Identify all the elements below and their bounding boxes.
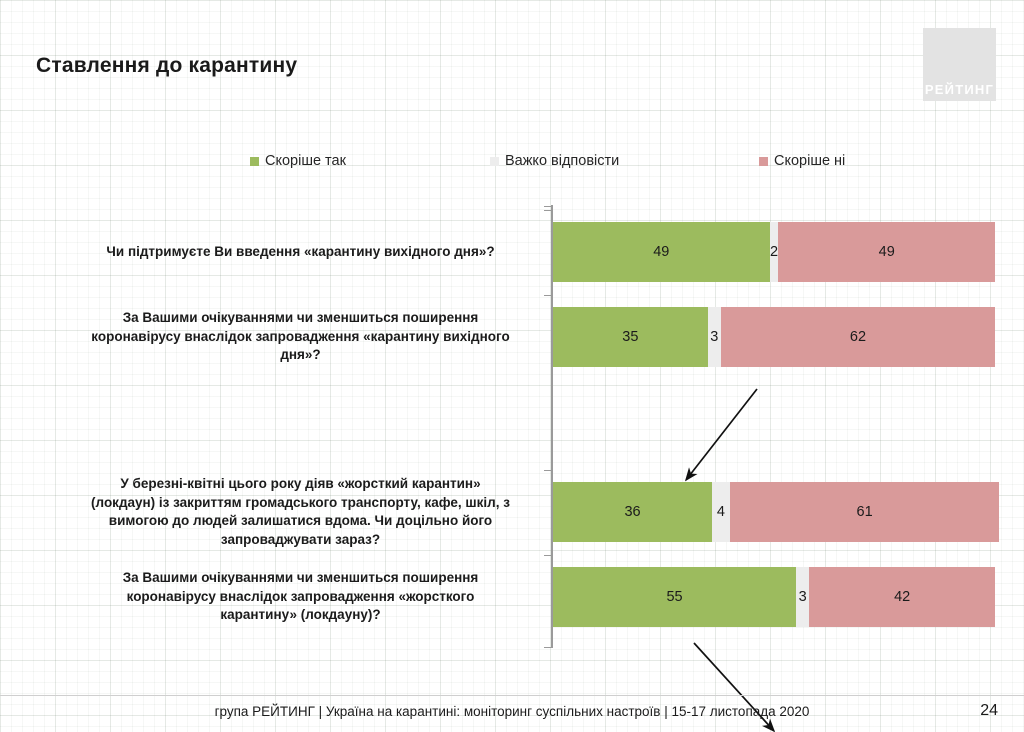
- segment-value: 42: [894, 589, 910, 605]
- legend-swatch-hard: [490, 157, 499, 166]
- category-label-line: Чи підтримуєте Ви введення «карантину ви…: [60, 243, 541, 262]
- category-label-line: У березні-квітні цього року діяв «жорстк…: [60, 475, 541, 494]
- logo-label: РЕЙТИНГ: [925, 82, 994, 97]
- segment-no: 49: [778, 222, 995, 282]
- legend-swatch-no: [759, 157, 768, 166]
- segment-value: 55: [666, 589, 682, 605]
- category-label: За Вашими очікуваннями чи зменшиться пош…: [60, 569, 541, 625]
- segment-no: 61: [730, 482, 1000, 542]
- axis-tick: [544, 470, 552, 471]
- segment-value: 49: [653, 244, 669, 260]
- segment-value: 3: [799, 589, 807, 605]
- legend-item-hard: Важко відповісти: [490, 153, 619, 169]
- category-label-line: коронавірусу внаслідок запровадження «ка…: [60, 328, 541, 347]
- segment-value: 4: [717, 504, 725, 520]
- slide: Ставлення до карантину РЕЙТИНГ Скоріше т…: [0, 0, 1024, 732]
- category-label-line: (локдаун) із закриттям громадського тран…: [60, 494, 541, 513]
- segment-value: 62: [850, 329, 866, 345]
- legend-item-yes: Скоріше так: [250, 153, 346, 169]
- segment-no: 42: [809, 567, 995, 627]
- axis-tick: [544, 206, 552, 207]
- arrow-weekend-quarantine: [686, 389, 757, 480]
- legend-item-no: Скоріше ні: [759, 153, 845, 169]
- segment-hard: 3: [708, 307, 721, 367]
- legend-label-no: Скоріше ні: [774, 153, 845, 169]
- page-title: Ставлення до карантину: [36, 54, 297, 78]
- category-label: За Вашими очікуваннями чи зменшиться пош…: [60, 309, 541, 365]
- segment-value: 49: [879, 244, 895, 260]
- axis-tick: [544, 555, 552, 556]
- chart-row: Чи підтримуєте Ви введення «карантину ви…: [0, 222, 1024, 282]
- segment-yes: 55: [553, 567, 796, 627]
- legend-label-yes: Скоріше так: [265, 153, 346, 169]
- rating-logo: РЕЙТИНГ: [923, 28, 996, 101]
- category-label-line: запроваджувати зараз?: [60, 531, 541, 550]
- axis-tick: [544, 647, 552, 648]
- segment-value: 2: [770, 244, 778, 260]
- segment-hard: 2: [770, 222, 779, 282]
- segment-hard: 4: [712, 482, 730, 542]
- chart-row: За Вашими очікуваннями чи зменшиться пош…: [0, 307, 1024, 367]
- category-label: У березні-квітні цього року діяв «жорстк…: [60, 475, 541, 549]
- stacked-bar-chart: Чи підтримуєте Ви введення «карантину ви…: [0, 200, 1024, 650]
- page-number: 24: [980, 702, 998, 720]
- axis-tick: [544, 295, 552, 296]
- chart-legend: Скоріше так Важко відповісти Скоріше ні: [250, 153, 870, 173]
- chart-row: За Вашими очікуваннями чи зменшиться пош…: [0, 567, 1024, 627]
- segment-value: 3: [710, 329, 718, 345]
- legend-label-hard: Важко відповісти: [505, 153, 619, 169]
- footer-source-text: група РЕЙТИНГ | Україна на карантині: мо…: [215, 704, 810, 719]
- segment-yes: 35: [553, 307, 708, 367]
- segment-value: 61: [857, 504, 873, 520]
- segment-no: 62: [721, 307, 995, 367]
- category-label-line: дня»?: [60, 346, 541, 365]
- axis-tick: [544, 210, 552, 211]
- segment-yes: 49: [553, 222, 770, 282]
- segment-value: 35: [622, 329, 638, 345]
- segment-value: 36: [624, 504, 640, 520]
- chart-row: У березні-квітні цього року діяв «жорстк…: [0, 482, 1024, 542]
- segment-hard: 3: [796, 567, 809, 627]
- legend-swatch-yes: [250, 157, 259, 166]
- slide-footer: група РЕЙТИНГ | Україна на карантині: мо…: [0, 695, 1024, 732]
- category-label-line: За Вашими очікуваннями чи зменшиться пош…: [60, 569, 541, 588]
- segment-yes: 36: [553, 482, 712, 542]
- category-label-line: За Вашими очікуваннями чи зменшиться пош…: [60, 309, 541, 328]
- category-label-line: коронавірусу внаслідок запровадження «жо…: [60, 588, 541, 607]
- category-label-line: вимогою до людей залишатися вдома. Чи до…: [60, 512, 541, 531]
- category-label: Чи підтримуєте Ви введення «карантину ви…: [60, 243, 541, 262]
- category-label-line: карантину» (локдауну)?: [60, 606, 541, 625]
